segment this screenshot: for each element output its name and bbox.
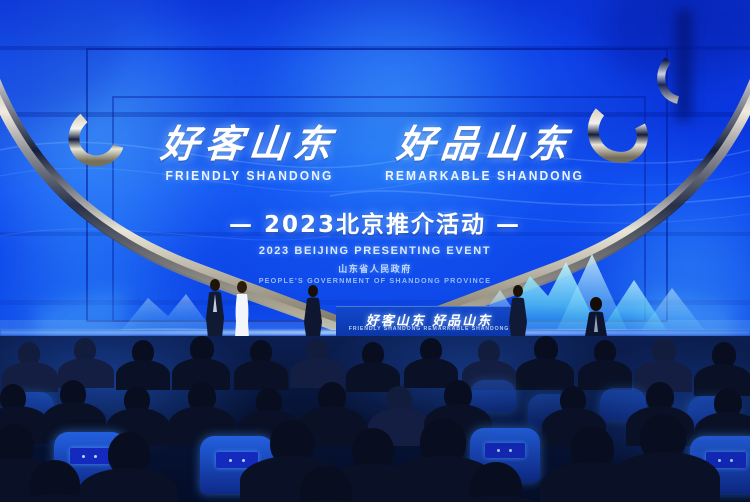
event-photo-scene: 好客山东 FRIENDLY SHANDONG 好品山东 REMARKABLE S… (0, 0, 750, 502)
podium-banner: 好客山东 好品山东 FRIENDLY SHANDONG REMARKABLE S… (336, 306, 522, 337)
audience-area (0, 336, 750, 502)
presenter-center (300, 284, 326, 338)
audience-shoulders (116, 360, 170, 390)
speaker-right-stage (506, 284, 530, 338)
audience-shoulders (234, 360, 288, 390)
podium-text-en: FRIENDLY SHANDONG REMARKABLE SHANDONG (336, 326, 522, 332)
audience-shoulders (578, 360, 632, 390)
host-female (228, 280, 256, 340)
audience-shoulders (516, 358, 574, 390)
chair-number-tag (70, 448, 110, 464)
chair-number-tag (485, 443, 525, 458)
organizer-en: PEOPLE'S GOVERNMENT OF SHANDONG PROVINCE (0, 276, 750, 285)
host-male (200, 278, 230, 340)
organizer-cn: 山东省人民政府 (0, 262, 750, 275)
audience-shoulders (610, 452, 720, 502)
